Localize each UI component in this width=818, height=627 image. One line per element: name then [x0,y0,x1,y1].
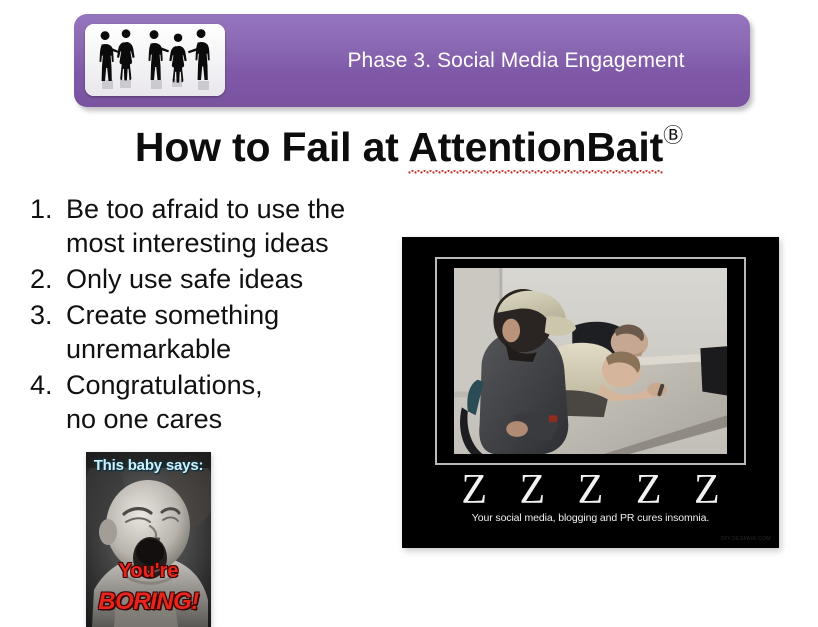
baby-poster-line1: You're [86,560,211,583]
registered-trademark-icon: Ⓑ [663,125,683,147]
page-title-brand: AttentionBait [408,124,663,175]
list-item-label: Create something unremarkable [66,298,279,366]
list-item: 1. Be too afraid to use the most interes… [22,192,402,260]
poster-headline: Z Z Z Z Z [402,469,779,511]
list-item-label: Congratulations, no one cares [66,368,263,436]
slide-canvas: Phase 3. Social Media Engagement How to … [0,0,818,627]
demotivational-poster: Z Z Z Z Z Your social media, blogging an… [402,237,779,548]
phase-banner: Phase 3. Social Media Engagement [74,14,750,107]
list-item: 2. Only use safe ideas [22,262,402,296]
list-item-number: 4. [22,368,66,402]
list-item-number: 1. [22,192,66,226]
list-item-number: 2. [22,262,66,296]
people-networking-silhouettes-icon [85,24,225,96]
fail-steps-list: 1. Be too afraid to use the most interes… [22,192,402,438]
list-item-number: 3. [22,298,66,332]
poster-photo-frame [435,257,746,465]
page-title: How to Fail at AttentionBaitⒷ [0,119,818,171]
list-item: 3. Create something unremarkable [22,298,402,366]
page-title-prefix: How to Fail at [135,124,408,170]
sleeping-men-photo [454,268,727,454]
list-item-label: Only use safe ideas [66,262,303,296]
poster-watermark: DIY.DESPAIR.COM [721,536,771,542]
banner-title: Phase 3. Social Media Engagement [304,14,728,107]
baby-poster-line2: BORING! [86,588,211,616]
list-item-label: Be too afraid to use the most interestin… [66,192,345,260]
list-item: 4. Congratulations, no one cares [22,368,402,436]
boring-baby-poster: This baby says: You're BORING! [86,452,211,627]
poster-caption: Your social media, blogging and PR cures… [402,512,779,524]
baby-poster-top-text: This baby says: [86,457,211,474]
